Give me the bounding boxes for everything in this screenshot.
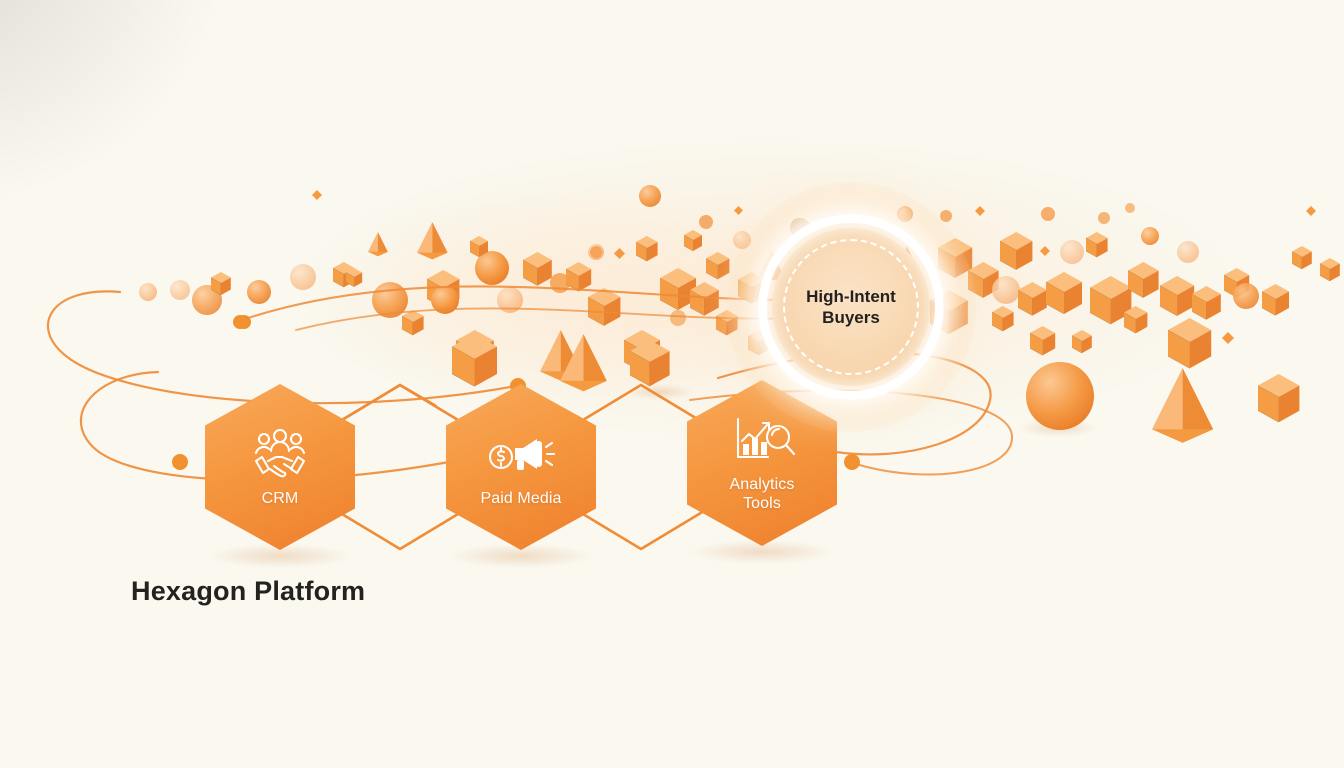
- hexagon-shape: [205, 384, 355, 550]
- hexagon-node-paid-media[interactable]: Paid Media: [446, 384, 596, 550]
- page-title: Hexagon Platform: [131, 576, 365, 607]
- buyers-label: High-Intent Buyers: [772, 228, 930, 386]
- high-intent-buyers-node[interactable]: High-Intent Buyers: [772, 228, 930, 386]
- illustration-canvas: CRM: [0, 0, 1344, 768]
- hexagon-shape: [446, 384, 596, 550]
- background-graphics: [0, 0, 1344, 768]
- hexagon-node-crm[interactable]: CRM: [205, 384, 355, 550]
